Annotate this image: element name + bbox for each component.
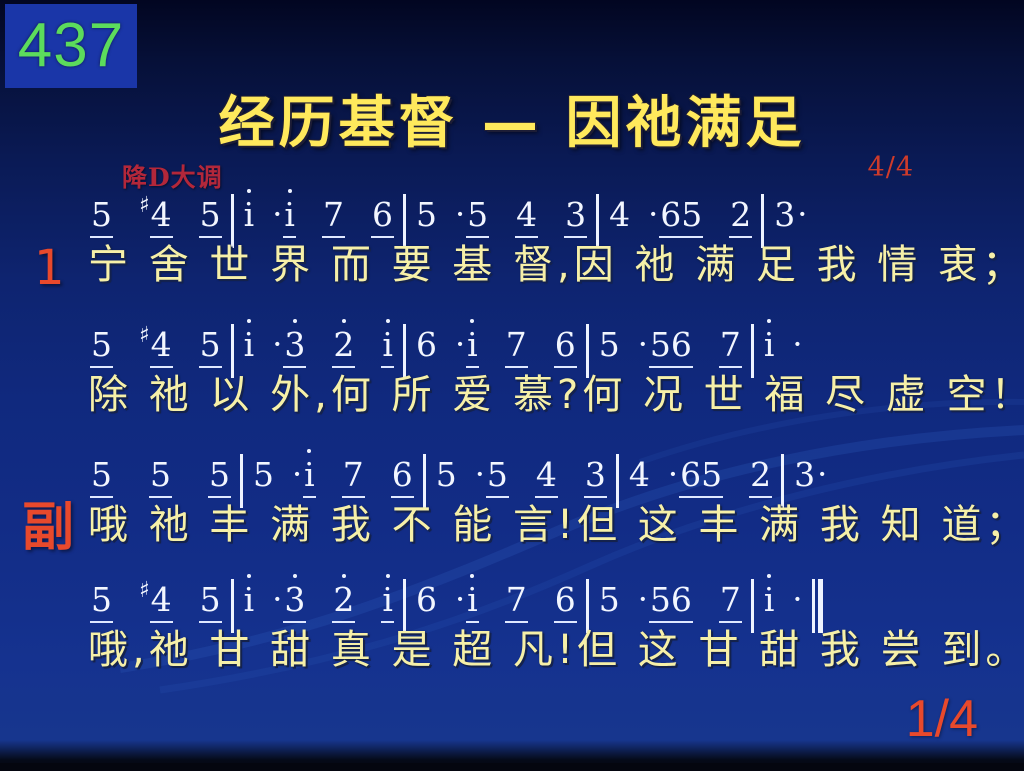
barline	[231, 324, 234, 378]
barline	[403, 579, 406, 633]
barline	[586, 579, 589, 633]
key-signature-label: 降D大调	[122, 158, 223, 194]
barline	[231, 579, 234, 633]
barline	[596, 194, 599, 248]
barline	[781, 454, 784, 508]
hymn-number-badge: 437	[5, 4, 137, 88]
lyrics-line: 除 祂 以 外,何 所 爱 慕?何 况 世 福 尽 虚 空！	[88, 372, 1024, 418]
hymn-number: 437	[18, 15, 124, 77]
notation-row: 5 5 5 5 · i 7 6 5 · 5 4 3 4 ·	[90, 458, 828, 508]
notation-row: 5 ♯4 5 i · i 7 6 5 · 5 4 3 4 ·	[90, 198, 808, 248]
verse-number-marker: 1	[34, 244, 65, 292]
barline	[403, 194, 406, 248]
sharp-accidental: ♯	[139, 325, 150, 347]
barline	[751, 324, 754, 378]
chorus-marker: 副	[22, 502, 74, 554]
barline	[761, 194, 764, 248]
barline	[240, 454, 243, 508]
notation-row: 5 ♯4 5 i · 3 2 i 6 · i 7 6 5 ·	[90, 328, 804, 378]
lyrics-line: 宁 舍 世 界 而 要 基 督,因 祂 满 足 我 情 衷；	[88, 242, 1024, 288]
final-double-barline	[812, 579, 823, 633]
page-indicator: 1/4	[906, 693, 978, 745]
bottom-strip	[0, 763, 1024, 771]
barline	[231, 194, 234, 248]
barline	[586, 324, 589, 378]
hymn-slide: 437 经历基督 — 因祂满足 降D大调 4/4 1 5 ♯4 5 i · i …	[0, 0, 1024, 771]
barline	[751, 579, 754, 633]
lyrics-line: 哦,祂 甘 甜 真 是 超 凡!但 这 甘 甜 我 尝 到。	[88, 627, 1024, 673]
lyrics-line: 哦 祂 丰 满 我 不 能 言!但 这 丰 满 我 知 道；	[88, 502, 1024, 548]
sharp-accidental: ♯	[139, 580, 150, 602]
time-signature-label: 4/4	[868, 152, 914, 183]
sharp-accidental: ♯	[139, 195, 150, 217]
barline	[423, 454, 426, 508]
notation-row: 5 ♯4 5 i · 3 2 i 6 · i 7 6 5 ·	[90, 583, 825, 633]
barline	[403, 324, 406, 378]
page-title: 经历基督 — 因祂满足	[0, 78, 1024, 159]
barline	[616, 454, 619, 508]
